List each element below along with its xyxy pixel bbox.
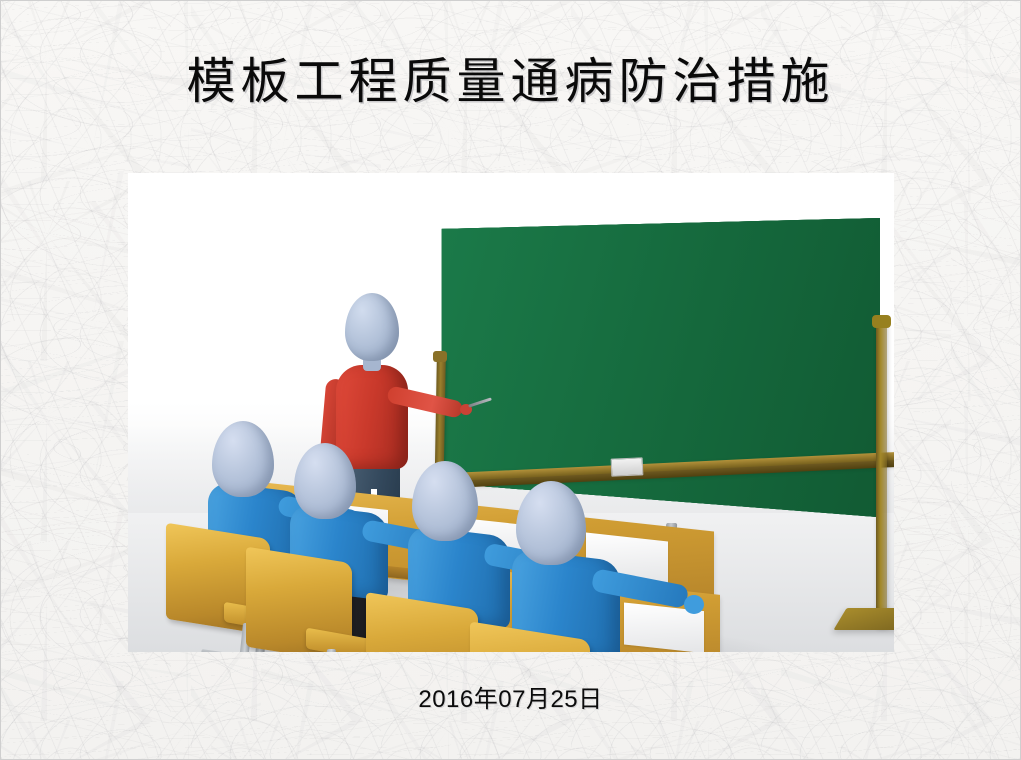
blackboard-right-post (876, 322, 887, 627)
page-title: 模板工程质量通病防治措施 (1, 53, 1020, 111)
student-4-hand (684, 595, 704, 614)
student-2-head (294, 443, 356, 519)
presentation-slide: 模板工程质量通病防治措施 (0, 0, 1021, 760)
slide-date: 2016年07月25日 (1, 679, 1020, 714)
blackboard-right-post-cap (872, 315, 891, 328)
student-1-head (212, 421, 274, 497)
classroom-lecture-illustration (128, 173, 894, 652)
chalkboard-eraser-icon (611, 457, 644, 476)
student-4-head (516, 481, 586, 565)
teacher-head (345, 293, 399, 361)
student-3-head (412, 461, 478, 541)
blackboard-left-post-cap (433, 351, 447, 362)
student-figure-4 (488, 481, 660, 652)
